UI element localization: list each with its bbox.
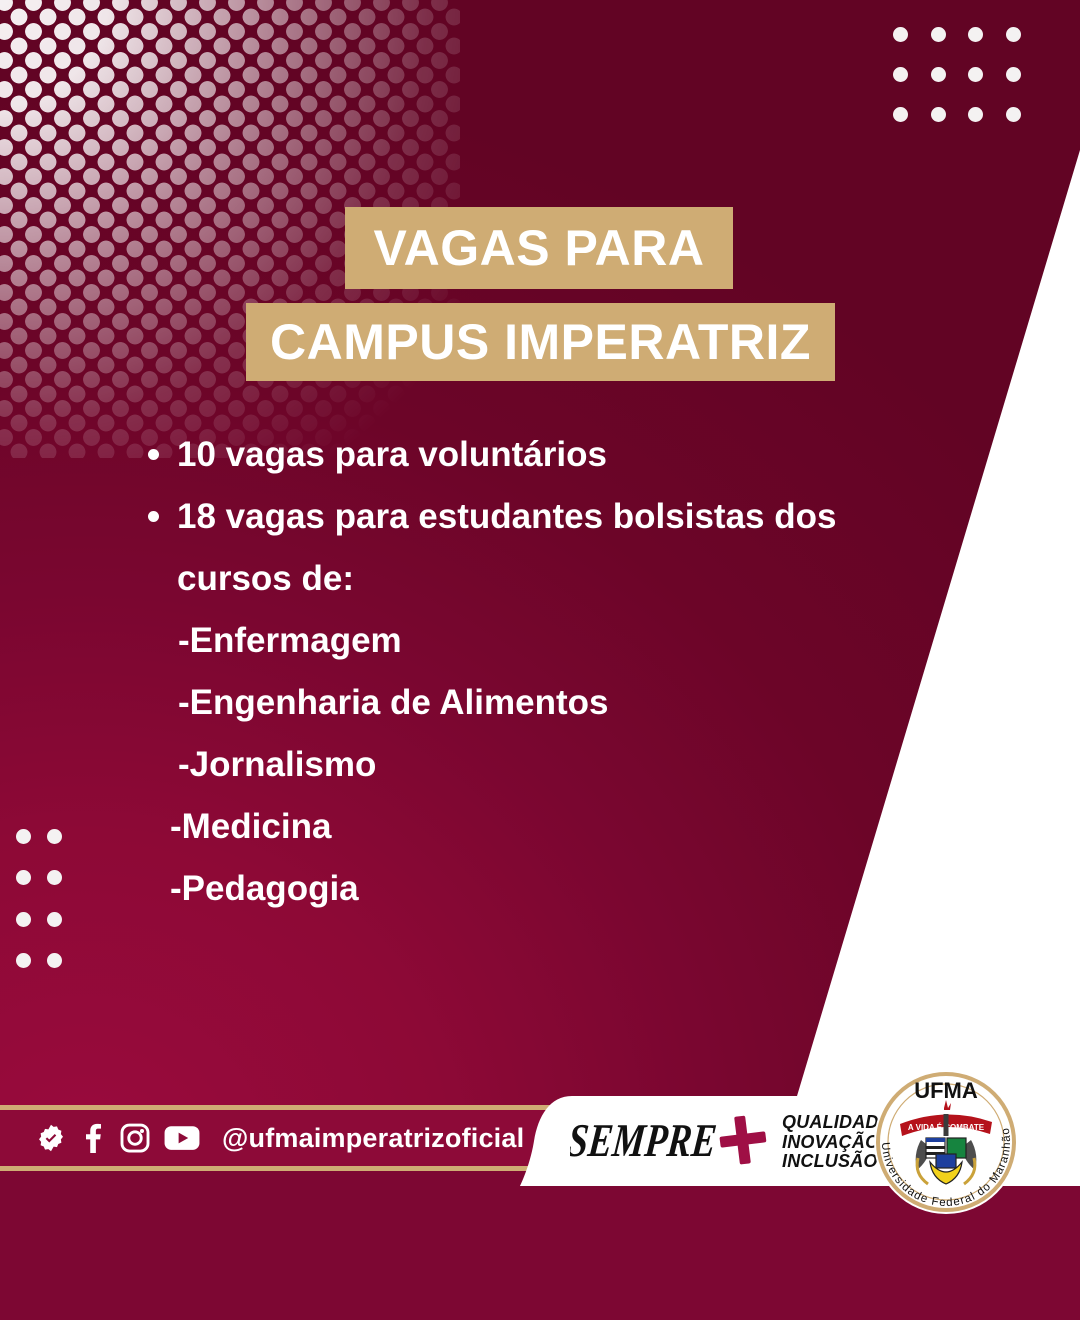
facebook-icon[interactable] [80,1123,106,1153]
course-item-engenharia-de-alimentos: -Engenharia de Alimentos [148,672,978,734]
title-banner-line2: CAMPUS IMPERATRIZ [246,303,835,381]
plus-mark-icon [719,1116,766,1165]
verified-badge-icon[interactable] [36,1123,66,1153]
poster-canvas: VAGAS PARA CAMPUS IMPERATRIZ 10 vagas pa… [0,0,1080,1320]
list-item: 18 vagas para estudantes bolsistas dos [148,486,978,548]
social-links: @ufmaimperatrizoficial [36,1113,524,1163]
ufma-seal-logo: UFMA A VIDA É COMBATE Univer [866,1062,1026,1222]
list-item-continuation: cursos de: [148,548,978,610]
bullet-icon [148,449,159,460]
social-handle-label: @ufmaimperatrizoficial [222,1123,524,1154]
instagram-icon[interactable] [120,1123,150,1153]
dot-grid-left-decoration [8,816,70,981]
course-item-enfermagem: -Enfermagem [148,610,978,672]
dot-grid-top-right-decoration [882,14,1032,134]
title-banner-line1: VAGAS PARA [345,207,733,289]
list-item-label: 18 vagas para estudantes bolsistas dos [177,486,978,548]
course-item-medicina: -Medicina [148,796,978,858]
list-item-label: 10 vagas para voluntários [177,424,978,486]
course-item-jornalismo: -Jornalismo [148,734,978,796]
sempre-wordmark-text: SEMPRE [570,1115,719,1167]
list-item: 10 vagas para voluntários [148,424,978,486]
seal-acronym-text: UFMA [914,1078,978,1103]
bullet-icon [148,511,159,522]
sempre-mais-logo: SEMPRE [570,1104,770,1176]
course-item-pedagogia: -Pedagogia [148,858,978,920]
youtube-icon[interactable] [164,1124,200,1152]
vacancies-list: 10 vagas para voluntários 18 vagas para … [148,424,978,920]
